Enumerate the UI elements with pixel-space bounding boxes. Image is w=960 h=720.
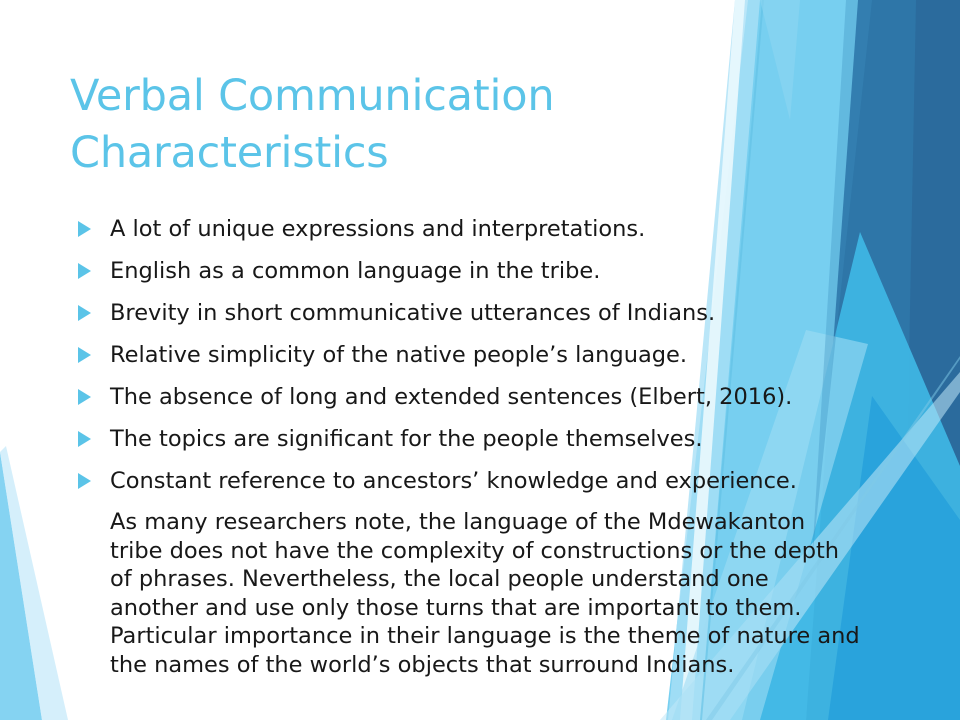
list-item-label: Brevity in short communicative utterance…: [110, 302, 715, 325]
left-wedge-shape: [0, 452, 42, 720]
triangle-right-icon: [78, 221, 91, 237]
triangle-right-icon: [78, 347, 91, 363]
list-item: The topics are significant for the peopl…: [70, 418, 870, 460]
triangle-right-icon: [78, 263, 91, 279]
right-navy-shape: [902, 0, 960, 720]
list-item-label: English as a common language in the trib…: [110, 260, 600, 283]
list-item-label: The absence of long and extended sentenc…: [110, 386, 792, 409]
triangle-right-icon: [78, 305, 91, 321]
page-title: Verbal Communication Characteristics: [70, 68, 710, 182]
band-top-light-shape: [760, 0, 800, 120]
list-item-label: A lot of unique expressions and interpre…: [110, 218, 645, 241]
list-item: The absence of long and extended sentenc…: [70, 376, 870, 418]
list-item: Relative simplicity of the native people…: [70, 334, 870, 376]
triangle-right-icon: [78, 473, 91, 489]
triangle-right-icon: [78, 389, 91, 405]
list-item: Constant reference to ancestors’ knowled…: [70, 460, 870, 502]
closing-paragraph: As many researchers note, the language o…: [110, 508, 862, 679]
list-item: A lot of unique expressions and interpre…: [70, 208, 870, 250]
list-item: Brevity in short communicative utterance…: [70, 292, 870, 334]
list-item-label: Constant reference to ancestors’ knowled…: [110, 470, 797, 493]
list-item-label: The topics are significant for the peopl…: [110, 428, 703, 451]
triangle-right-icon: [78, 431, 91, 447]
presentation-slide: Verbal Communication Characteristics A l…: [0, 0, 960, 720]
bullet-list: A lot of unique expressions and interpre…: [70, 208, 870, 502]
left-wedge-shape-pale: [0, 446, 68, 720]
list-item: English as a common language in the trib…: [70, 250, 870, 292]
list-item-label: Relative simplicity of the native people…: [110, 344, 687, 367]
